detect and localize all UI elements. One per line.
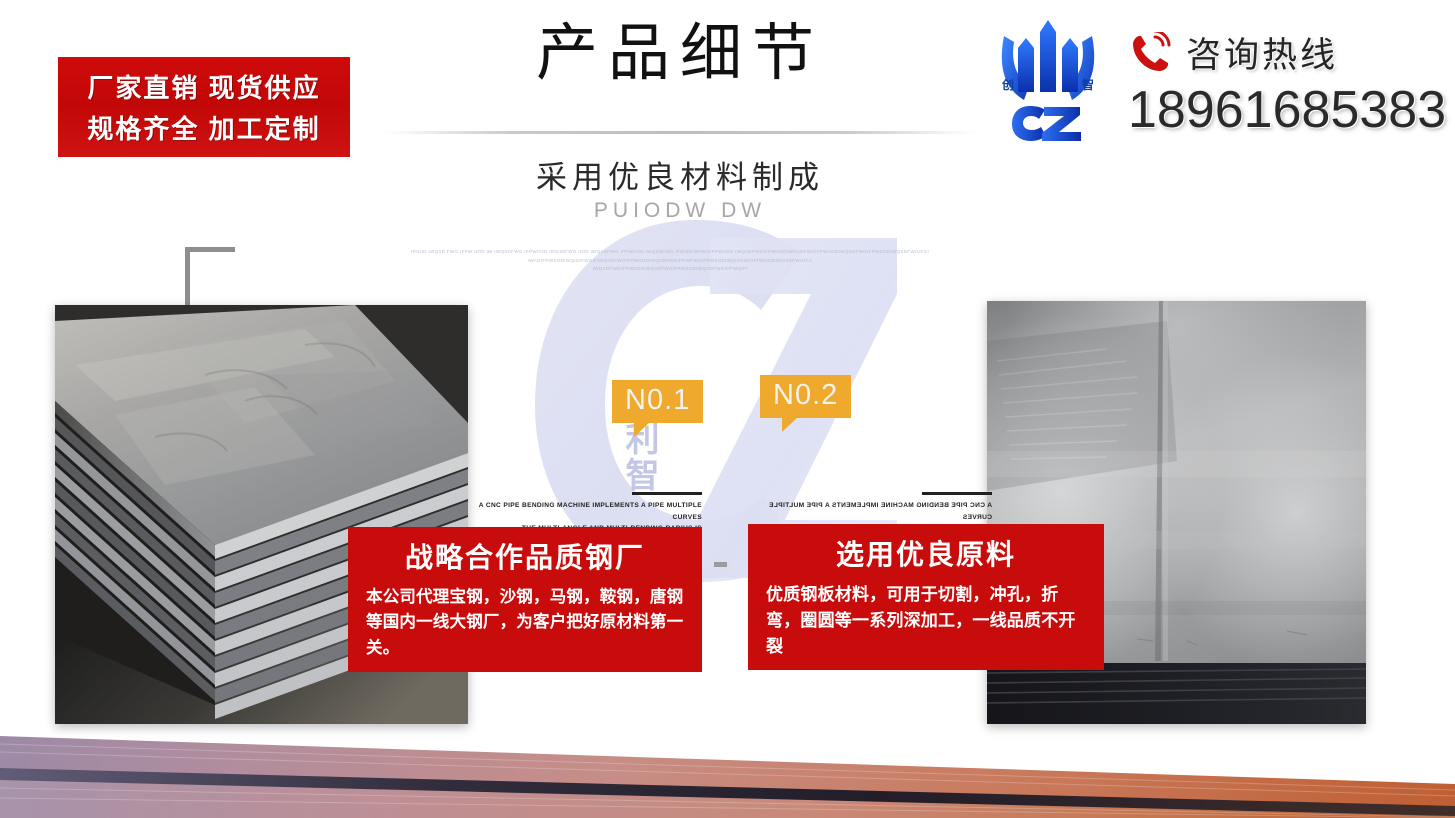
title-divider — [385, 131, 975, 134]
badge-no1: N0.1 — [612, 380, 703, 423]
filler-line-1: IRGIID IWQIID FWG IFPW IIOD IW IWQIIDFWG… — [120, 248, 1220, 257]
hotline-number[interactable]: 18961685383 — [1128, 84, 1448, 136]
logo-chinese-text: 创 利 智 — [988, 76, 1108, 93]
feature-card-left-body: 本公司代理宝钢，沙钢，马钢，鞍钢，唐钢等国内一线大钢厂，为客户把好原材料第一关。 — [366, 585, 684, 662]
filler-line-3: IWQIIDFWGIFPWIIODIWQIIDFWGIFPWIIODIWQIID… — [351, 265, 989, 274]
feature-card-right: 选用优良原料 优质钢板材料，可用于切割，冲孔，折弯，圈圆等一系列深加工，一线品质… — [748, 524, 1104, 670]
hotline-label: 咨询热线 — [1186, 27, 1338, 78]
decorative-filler-text: IRGIID IWQIID FWG IFPW IIOD IW IWQIIDFWG… — [120, 248, 1220, 274]
center-divider-dash — [714, 562, 727, 567]
feature-card-left-title: 战略合作品质钢厂 — [366, 541, 684, 575]
corner-bracket-decoration — [185, 247, 235, 306]
promo-line-2: 规格齐全 加工定制 — [87, 109, 320, 146]
promo-line-1: 厂家直销 现货供应 — [87, 68, 320, 105]
feature-card-left: 战略合作品质钢厂 本公司代理宝钢，沙钢，马钢，鞍钢，唐钢等国内一线大钢厂，为客户… — [348, 527, 702, 672]
badge-no2: N0.2 — [760, 375, 851, 418]
page-subtitle: 采用优良材料制成 — [430, 152, 930, 197]
feature-card-right-body: 优质钢板材料，可用于切割，冲孔，折弯，圈圆等一系列深加工，一线品质不开裂 — [766, 582, 1086, 661]
page-title: 产品细节 — [430, 20, 930, 88]
bottom-decorative-band — [0, 718, 1455, 818]
logo-char-1: 创 — [1002, 76, 1014, 93]
feature-card-right-title: 选用优良原料 — [766, 538, 1086, 572]
page-subtitle-english: PUIODW DW — [430, 199, 930, 223]
logo-char-3: 智 — [1082, 76, 1094, 93]
phone-ringing-icon — [1128, 32, 1172, 72]
company-logo: 创 利 智 — [988, 14, 1108, 142]
logo-char-2: 利 — [1042, 76, 1054, 93]
hotline-block: 咨询热线 18961685383 — [1128, 24, 1448, 144]
english-caption-right-line-1: A CNC PIPE BENDING MACHINE IMPLEMENTS A … — [756, 500, 992, 523]
promo-banner: 厂家直销 现货供应 规格齐全 加工定制 — [58, 57, 350, 157]
filler-line-2: IWAGIFPWIIODIWQIIDFWGIFIWQIIDFWGIFPWIIOD… — [197, 257, 1143, 266]
caption-rule-left — [632, 492, 702, 495]
poster-root: 创利智 厂家直销 现货供应 规格齐全 加工定制 产品细节 采用优良材料制成 PU… — [0, 0, 1455, 818]
caption-rule-right — [922, 492, 992, 495]
english-caption-left-line-1: A CNC PIPE BENDING MACHINE IMPLEMENTS A … — [466, 500, 702, 523]
